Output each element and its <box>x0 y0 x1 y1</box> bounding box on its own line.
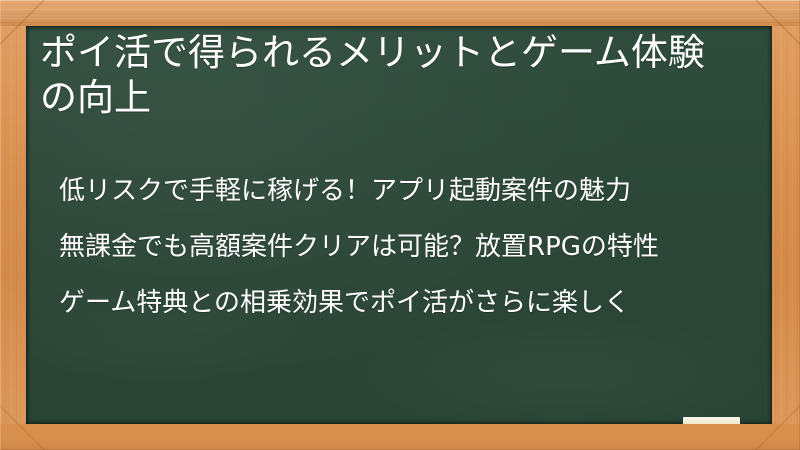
list-item: ゲーム特典との相乗効果でポイ活がさらに楽しく <box>59 284 731 322</box>
list-item: 低リスクで手軽に稼げる！アプリ起動案件の魅力 <box>59 172 731 210</box>
frame-bottom-rail <box>0 424 800 450</box>
blackboard-card: ポイ活で得られるメリットとゲーム体験の向上 低リスクで手軽に稼げる！アプリ起動案… <box>0 0 800 450</box>
chalkboard-surface: ポイ活で得られるメリットとゲーム体験の向上 低リスクで手軽に稼げる！アプリ起動案… <box>26 26 772 424</box>
chalk-stick <box>683 417 740 424</box>
list-item: 無課金でも高額案件クリアは可能？放置RPGの特性 <box>59 228 731 266</box>
heading-list: 低リスクで手軽に稼げる！アプリ起動案件の魅力 無課金でも高額案件クリアは可能？放… <box>59 172 731 322</box>
page-title: ポイ活で得られるメリットとゲーム体験の向上 <box>40 30 740 120</box>
board-content: ポイ活で得られるメリットとゲーム体験の向上 低リスクで手軽に稼げる！アプリ起動案… <box>33 26 765 424</box>
frame-top-rail <box>0 0 800 26</box>
